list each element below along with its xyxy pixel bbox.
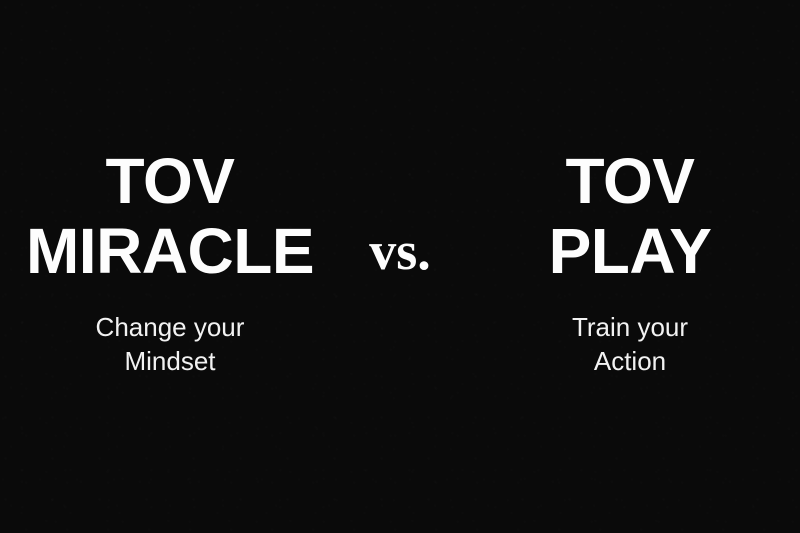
left-subtitle-line-2: Mindset (96, 344, 245, 378)
comparison-side-left: TOV MIRACLE Change your Mindset (0, 0, 340, 378)
versus-separator-container: vs. (340, 0, 460, 286)
right-subtitle-line-2: Action (572, 344, 688, 378)
left-headline-line-1: TOV (26, 146, 314, 216)
right-subtitle: Train your Action (572, 310, 688, 378)
slide-canvas: TOV MIRACLE Change your Mindset vs. TOV … (0, 0, 800, 533)
right-headline-line-2: PLAY (549, 216, 712, 286)
comparison-side-right: TOV PLAY Train your Action (460, 0, 800, 378)
versus-separator: vs. (369, 216, 431, 286)
right-headline: TOV PLAY (549, 146, 712, 286)
right-subtitle-line-1: Train your (572, 310, 688, 344)
comparison-layout: TOV MIRACLE Change your Mindset vs. TOV … (0, 0, 800, 533)
left-subtitle: Change your Mindset (96, 310, 245, 378)
left-headline-line-2: MIRACLE (26, 216, 314, 286)
left-subtitle-line-1: Change your (96, 310, 245, 344)
left-headline: TOV MIRACLE (26, 146, 314, 286)
right-headline-line-1: TOV (549, 146, 712, 216)
